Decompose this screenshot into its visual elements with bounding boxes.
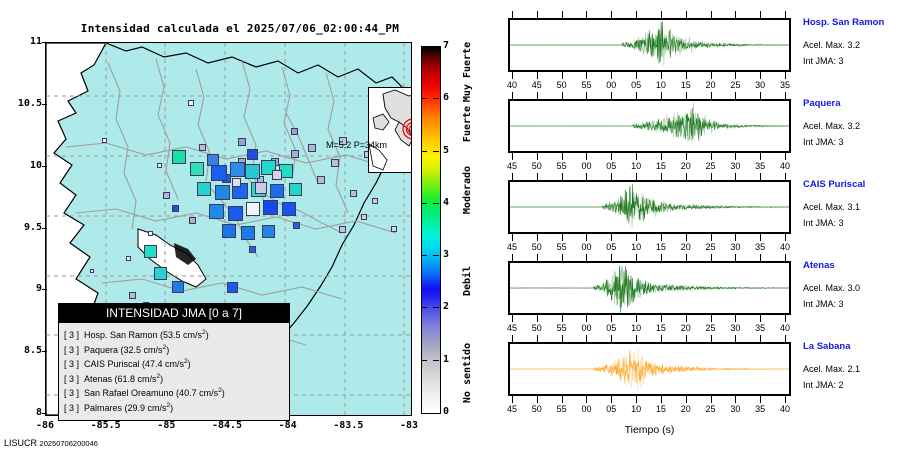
waveform-tick bbox=[711, 234, 712, 241]
waveform-tick bbox=[686, 173, 687, 180]
waveform-tick-label: 40 bbox=[499, 80, 525, 90]
waveform-tick bbox=[611, 396, 612, 403]
station-intensity-marker[interactable] bbox=[289, 183, 302, 196]
colorbar-tick-label: 2 bbox=[443, 301, 455, 312]
waveform-tick-label: 50 bbox=[524, 404, 550, 414]
map-y-tick-label: 10 bbox=[2, 160, 42, 171]
map-x-tick-label: -83.5 bbox=[325, 420, 371, 431]
waveform-tick bbox=[562, 153, 563, 160]
waveform-tick bbox=[686, 254, 687, 261]
waveform-bottom-ticks: 455055000510152025303540 bbox=[508, 234, 791, 241]
waveform-tick bbox=[636, 234, 637, 241]
station-intensity-marker[interactable] bbox=[144, 245, 157, 258]
waveform-tick bbox=[686, 11, 687, 18]
waveform-tick bbox=[586, 11, 587, 18]
station-intensity-marker[interactable] bbox=[211, 165, 227, 181]
waveform-tick-label: 50 bbox=[524, 323, 550, 333]
waveform-tick bbox=[735, 92, 736, 99]
waveform-station-name[interactable]: La Sabana bbox=[803, 341, 851, 352]
waveform-tick bbox=[735, 173, 736, 180]
waveform-tick-label: 20 bbox=[673, 242, 699, 252]
waveform-tick bbox=[562, 335, 563, 342]
waveform-tick bbox=[512, 11, 513, 18]
station-intensity-marker[interactable] bbox=[154, 267, 167, 280]
waveform-tick bbox=[735, 396, 736, 403]
waveform-tick-label: 10 bbox=[623, 161, 649, 171]
waveform-tick bbox=[537, 396, 538, 403]
map-y-tick-label: 9 bbox=[2, 283, 42, 294]
waveform-bottom-ticks: 455055000510152025303540 bbox=[508, 153, 791, 160]
waveform-tick bbox=[661, 315, 662, 322]
station-intensity-marker[interactable] bbox=[263, 200, 278, 215]
waveform-tick bbox=[711, 72, 712, 79]
waveform-tick bbox=[586, 254, 587, 261]
station-intensity-marker[interactable] bbox=[188, 100, 194, 106]
station-intensity-marker[interactable] bbox=[282, 202, 296, 216]
map-y-tick-label: 11 bbox=[2, 36, 42, 47]
colorbar-tick bbox=[433, 151, 439, 152]
station-intensity-marker[interactable] bbox=[246, 202, 260, 216]
waveform-tick bbox=[562, 72, 563, 79]
station-intensity-marker[interactable] bbox=[172, 281, 184, 293]
station-intensity-marker[interactable] bbox=[148, 231, 153, 236]
waveform-tick-label: 55 bbox=[573, 80, 599, 90]
station-intensity-marker[interactable] bbox=[291, 128, 298, 135]
waveform-tick bbox=[760, 11, 761, 18]
map-x-tick-label: -83 bbox=[386, 420, 432, 431]
waveform-bottom-ticks: 455055000510152025303540 bbox=[508, 396, 791, 403]
station-intensity-marker[interactable] bbox=[227, 282, 238, 293]
legend-entry: [ 3 ] Paquera (32.5 cm/s2) bbox=[64, 342, 284, 357]
waveform-tick bbox=[537, 173, 538, 180]
map-y-tick-label: 8 bbox=[2, 407, 42, 418]
waveform-tick bbox=[512, 234, 513, 241]
waveform-tick bbox=[586, 72, 587, 79]
waveform-tick bbox=[537, 153, 538, 160]
waveform-tick bbox=[785, 335, 786, 342]
waveform-tick bbox=[661, 234, 662, 241]
waveform-top-ticks bbox=[508, 173, 791, 180]
waveform-tick-label: 50 bbox=[549, 80, 575, 90]
colorbar-tick-label: 1 bbox=[443, 354, 455, 365]
waveform-tick-label: 30 bbox=[722, 242, 748, 252]
waveform-tick bbox=[586, 173, 587, 180]
station-intensity-marker[interactable] bbox=[197, 182, 211, 196]
map-y-tick bbox=[42, 228, 47, 229]
waveform-tick bbox=[711, 173, 712, 180]
waveform-tick bbox=[586, 92, 587, 99]
waveform-peak-acceleration: Acel. Max. 3.1 bbox=[803, 202, 860, 212]
map-y-axis: 1110.5109.598.58 bbox=[0, 42, 42, 414]
waveform-tick bbox=[760, 72, 761, 79]
station-intensity-marker[interactable] bbox=[331, 159, 339, 167]
waveform-tick bbox=[760, 254, 761, 261]
waveform-tick bbox=[512, 396, 513, 403]
waveform-tick-label: 15 bbox=[648, 242, 674, 252]
station-intensity-marker[interactable] bbox=[102, 138, 107, 143]
station-intensity-marker[interactable] bbox=[272, 170, 282, 180]
waveform-panel[interactable]: 404550550005101520253035Hosp. San RamonA… bbox=[508, 18, 893, 90]
station-intensity-marker[interactable] bbox=[190, 162, 204, 176]
station-intensity-marker[interactable] bbox=[230, 162, 245, 177]
waveform-tick bbox=[686, 234, 687, 241]
colorbar-tick-label: 6 bbox=[443, 92, 455, 103]
waveform-panel[interactable]: 455055000510152025303540CAIS PuriscalAce… bbox=[508, 180, 893, 252]
waveform-plot-box[interactable] bbox=[508, 18, 791, 72]
waveform-tick bbox=[562, 254, 563, 261]
station-intensity-marker[interactable] bbox=[90, 269, 94, 273]
magnitude-depth-label: M=5.2 P=34km bbox=[326, 140, 387, 150]
waveform-tick-label: 40 bbox=[772, 323, 798, 333]
waveform-tick bbox=[562, 173, 563, 180]
waveform-tick-label: 40 bbox=[772, 242, 798, 252]
waveform-tick bbox=[586, 396, 587, 403]
waveform-tick bbox=[735, 335, 736, 342]
map-y-tick bbox=[42, 351, 47, 352]
waveform-tick bbox=[711, 153, 712, 160]
waveform-tick bbox=[785, 234, 786, 241]
station-intensity-marker[interactable] bbox=[238, 138, 246, 146]
map-x-tick-label: -84 bbox=[265, 420, 311, 431]
waveform-tick-label: 25 bbox=[698, 404, 724, 414]
waveform-tick bbox=[562, 234, 563, 241]
waveform-tick bbox=[512, 335, 513, 342]
waveform-tick bbox=[785, 254, 786, 261]
waveform-tick-label: 00 bbox=[573, 242, 599, 252]
waveform-tick bbox=[735, 153, 736, 160]
waveform-trace bbox=[510, 182, 789, 232]
colorbar-tick-label: 4 bbox=[443, 197, 455, 208]
waveform-tick bbox=[735, 72, 736, 79]
waveform-tick bbox=[611, 173, 612, 180]
colorbar-category-label: Fuerte bbox=[462, 106, 473, 142]
waveform-tick bbox=[562, 11, 563, 18]
map-y-tick-label: 9.5 bbox=[2, 222, 42, 233]
waveform-tick bbox=[661, 11, 662, 18]
station-intensity-marker[interactable] bbox=[291, 150, 299, 158]
waveform-tick bbox=[711, 335, 712, 342]
waveform-tick-label: 20 bbox=[673, 404, 699, 414]
waveform-peak-acceleration: Acel. Max. 2.1 bbox=[803, 364, 860, 374]
waveform-tick bbox=[760, 315, 761, 322]
waveform-tick bbox=[512, 254, 513, 261]
waveform-jma-intensity: Int JMA: 3 bbox=[803, 56, 844, 66]
station-intensity-marker[interactable] bbox=[126, 256, 131, 261]
waveform-tick bbox=[512, 153, 513, 160]
map-y-tick bbox=[42, 413, 47, 414]
waveform-tick-label: 35 bbox=[747, 242, 773, 252]
footer-credit: LISUCR 20250706200046 bbox=[4, 438, 98, 448]
waveform-station-name[interactable]: Atenas bbox=[803, 260, 835, 271]
waveform-tick bbox=[735, 315, 736, 322]
waveform-tick bbox=[636, 92, 637, 99]
waveform-tick-label: 05 bbox=[623, 80, 649, 90]
waveform-plot-box[interactable] bbox=[508, 261, 791, 315]
waveform-tick-label: 15 bbox=[648, 404, 674, 414]
waveform-tick-label: 55 bbox=[549, 404, 575, 414]
waveform-tick bbox=[760, 92, 761, 99]
waveform-tick bbox=[512, 173, 513, 180]
waveform-tick bbox=[611, 153, 612, 160]
waveform-tick bbox=[760, 396, 761, 403]
waveform-tick bbox=[711, 92, 712, 99]
waveform-peak-acceleration: Acel. Max. 3.2 bbox=[803, 121, 860, 131]
colorbar-tick bbox=[421, 255, 427, 256]
station-intensity-marker[interactable] bbox=[293, 222, 300, 229]
waveform-tick-label: 35 bbox=[747, 323, 773, 333]
legend-entry: [ 3 ] Hosp. San Ramon (53.5 cm/s2) bbox=[64, 327, 284, 342]
waveform-tick-label: 00 bbox=[573, 404, 599, 414]
locator-inset-map[interactable] bbox=[368, 87, 412, 173]
waveform-tick-label: 55 bbox=[549, 242, 575, 252]
map-y-tick bbox=[42, 42, 47, 43]
waveform-tick bbox=[735, 254, 736, 261]
legend-entry: [ 3 ] CAIS Puriscal (47.4 cm/s2) bbox=[64, 356, 284, 371]
colorbar-tick-label: 3 bbox=[443, 249, 455, 260]
waveform-jma-intensity: Int JMA: 2 bbox=[803, 380, 844, 390]
station-intensity-marker[interactable] bbox=[172, 150, 186, 164]
station-intensity-marker[interactable] bbox=[249, 246, 256, 253]
map-y-tick bbox=[42, 289, 47, 290]
waveform-tick-label: 15 bbox=[673, 80, 699, 90]
waveform-tick bbox=[760, 173, 761, 180]
footer-event-id: 20250706200046 bbox=[40, 439, 98, 448]
waveform-tick-label: 45 bbox=[524, 80, 550, 90]
waveform-tick bbox=[586, 153, 587, 160]
colorbar-tick bbox=[433, 98, 439, 99]
waveform-tick bbox=[785, 92, 786, 99]
waveform-tick bbox=[661, 153, 662, 160]
waveform-tick-label: 00 bbox=[573, 323, 599, 333]
waveform-xaxis-title: Tiempo (s) bbox=[508, 424, 791, 436]
station-intensity-marker[interactable] bbox=[215, 185, 230, 200]
waveform-tick bbox=[661, 335, 662, 342]
waveform-jma-intensity: Int JMA: 3 bbox=[803, 299, 844, 309]
waveform-station-name[interactable]: Paquera bbox=[803, 98, 841, 109]
waveform-tick bbox=[537, 335, 538, 342]
waveform-tick-label: 20 bbox=[698, 80, 724, 90]
waveform-tick bbox=[611, 11, 612, 18]
map-x-tick-label: -86 bbox=[22, 420, 68, 431]
waveform-tick bbox=[586, 335, 587, 342]
waveform-tick bbox=[611, 315, 612, 322]
legend-entry: [ 3 ] Atenas (61.8 cm/s2) bbox=[64, 371, 284, 386]
waveform-tick bbox=[586, 234, 587, 241]
waveform-tick-label: 45 bbox=[499, 242, 525, 252]
colorbar-tick-label: 5 bbox=[443, 145, 455, 156]
waveform-tick bbox=[661, 254, 662, 261]
waveform-tick bbox=[537, 315, 538, 322]
waveform-tick bbox=[537, 72, 538, 79]
waveform-trace bbox=[510, 344, 789, 394]
waveform-panel[interactable]: 455055000510152025303540PaqueraAcel. Max… bbox=[508, 99, 893, 171]
waveform-tick bbox=[661, 92, 662, 99]
waveform-tick-label: 55 bbox=[549, 161, 575, 171]
waveform-tick bbox=[686, 335, 687, 342]
waveform-tick bbox=[785, 72, 786, 79]
waveform-tick-label: 45 bbox=[499, 323, 525, 333]
station-intensity-marker[interactable] bbox=[232, 178, 241, 187]
waveform-tick bbox=[537, 92, 538, 99]
waveform-tick bbox=[636, 72, 637, 79]
map-x-tick-label: -85.5 bbox=[83, 420, 129, 431]
waveform-tick-label: 05 bbox=[598, 323, 624, 333]
station-intensity-marker[interactable] bbox=[308, 144, 316, 152]
station-intensity-marker[interactable] bbox=[262, 225, 275, 238]
waveform-tick bbox=[661, 396, 662, 403]
waveform-tick-label: 30 bbox=[747, 80, 773, 90]
waveform-tick bbox=[611, 234, 612, 241]
waveform-tick-label: 10 bbox=[648, 80, 674, 90]
waveform-plot-box[interactable] bbox=[508, 99, 791, 153]
map-title: Intensidad calculada el 2025/07/06_02:00… bbox=[60, 22, 420, 35]
waveform-tick-label: 00 bbox=[598, 80, 624, 90]
waveform-tick bbox=[686, 153, 687, 160]
waveform-tick-label: 45 bbox=[499, 161, 525, 171]
waveform-tick bbox=[562, 396, 563, 403]
waveform-tick bbox=[636, 153, 637, 160]
station-intensity-marker[interactable] bbox=[222, 224, 236, 238]
waveform-tick-label: 50 bbox=[524, 161, 550, 171]
waveform-tick bbox=[711, 396, 712, 403]
station-intensity-marker[interactable] bbox=[189, 217, 196, 224]
station-intensity-marker[interactable] bbox=[372, 198, 378, 204]
waveform-tick bbox=[686, 72, 687, 79]
waveform-tick bbox=[711, 315, 712, 322]
waveform-tick bbox=[760, 234, 761, 241]
waveform-panel[interactable]: 455055000510152025303540AtenasAcel. Max.… bbox=[508, 261, 893, 333]
station-intensity-marker[interactable] bbox=[157, 163, 162, 168]
waveform-trace bbox=[510, 101, 789, 151]
waveform-tick-label: 20 bbox=[673, 323, 699, 333]
waveform-tick bbox=[611, 72, 612, 79]
station-intensity-marker[interactable] bbox=[129, 292, 136, 299]
legend-entry-list: [ 3 ] Hosp. San Ramon (53.5 cm/s2)[ 3 ] … bbox=[59, 323, 289, 420]
legend-entry: [ 3 ] Palmares (29.9 cm/s2) bbox=[64, 400, 284, 415]
map-y-tick bbox=[42, 166, 47, 167]
waveform-tick bbox=[785, 11, 786, 18]
map-y-tick-label: 8.5 bbox=[2, 345, 42, 356]
waveform-top-ticks bbox=[508, 335, 791, 342]
waveform-tick bbox=[537, 11, 538, 18]
waveform-tick-label: 00 bbox=[573, 161, 599, 171]
waveform-trace bbox=[510, 263, 789, 313]
station-intensity-marker[interactable] bbox=[270, 184, 284, 198]
colorbar-tick bbox=[433, 203, 439, 204]
waveform-tick-label: 30 bbox=[722, 323, 748, 333]
waveform-tick bbox=[735, 234, 736, 241]
colorbar-tick bbox=[421, 151, 427, 152]
waveform-tick-label: 25 bbox=[698, 242, 724, 252]
waveform-tick bbox=[512, 92, 513, 99]
map-y-tick bbox=[42, 104, 47, 105]
waveform-tick-label: 10 bbox=[623, 323, 649, 333]
station-intensity-marker[interactable] bbox=[199, 144, 206, 151]
map-x-tick-label: -85 bbox=[143, 420, 189, 431]
waveform-tick-label: 10 bbox=[623, 404, 649, 414]
colorbar-category-label: Muy Fuerte bbox=[462, 42, 473, 102]
waveform-tick bbox=[537, 254, 538, 261]
waveform-tick-label: 15 bbox=[648, 323, 674, 333]
waveform-plot-box[interactable] bbox=[508, 342, 791, 396]
waveform-tick bbox=[661, 72, 662, 79]
waveform-tick-label: 20 bbox=[673, 161, 699, 171]
waveform-trace bbox=[510, 20, 789, 70]
colorbar-tick bbox=[433, 307, 439, 308]
legend-title: INTENSIDAD JMA [0 a 7] bbox=[59, 304, 289, 323]
station-intensity-marker[interactable] bbox=[247, 149, 258, 160]
waveform-tick-label: 25 bbox=[698, 323, 724, 333]
waveform-tick bbox=[760, 153, 761, 160]
colorbar-tick bbox=[433, 255, 439, 256]
waveform-tick bbox=[735, 11, 736, 18]
intensity-legend[interactable]: INTENSIDAD JMA [0 a 7] [ 3 ] Hosp. San R… bbox=[58, 303, 290, 421]
waveform-tick-label: 40 bbox=[772, 161, 798, 171]
station-intensity-marker[interactable] bbox=[245, 164, 260, 179]
waveform-station-name[interactable]: Hosp. San Ramon bbox=[803, 17, 884, 28]
legend-entry: [ 3 ] San Rafael Oreamuno (40.7 cm/s2) bbox=[64, 385, 284, 400]
colorbar-tick bbox=[421, 203, 427, 204]
station-intensity-marker[interactable] bbox=[317, 176, 325, 184]
colorbar-tick bbox=[433, 360, 439, 361]
colorbar-tick bbox=[421, 360, 427, 361]
waveform-tick-label: 05 bbox=[598, 242, 624, 252]
waveform-tick bbox=[562, 315, 563, 322]
station-intensity-marker[interactable] bbox=[163, 192, 170, 199]
station-intensity-marker[interactable] bbox=[361, 214, 367, 220]
waveform-tick-label: 50 bbox=[524, 242, 550, 252]
waveform-tick bbox=[636, 396, 637, 403]
waveform-tick-label: 15 bbox=[648, 161, 674, 171]
waveform-station-name[interactable]: CAIS Puriscal bbox=[803, 179, 865, 190]
colorbar-category-label: Debil bbox=[462, 266, 473, 296]
station-intensity-marker[interactable] bbox=[209, 204, 224, 219]
waveform-tick-label: 35 bbox=[747, 161, 773, 171]
waveform-tick bbox=[611, 254, 612, 261]
station-intensity-marker[interactable] bbox=[339, 226, 346, 233]
waveform-tick bbox=[636, 173, 637, 180]
station-intensity-marker[interactable] bbox=[391, 226, 397, 232]
colorbar-tick bbox=[421, 307, 427, 308]
waveform-tick bbox=[636, 254, 637, 261]
waveform-top-ticks bbox=[508, 254, 791, 261]
waveform-panel[interactable]: 455055000510152025303540La SabanaAcel. M… bbox=[508, 342, 893, 414]
waveform-bottom-ticks: 404550550005101520253035 bbox=[508, 72, 791, 79]
waveform-tick bbox=[512, 72, 513, 79]
waveform-tick-label: 40 bbox=[772, 404, 798, 414]
waveform-tick bbox=[785, 173, 786, 180]
station-intensity-marker[interactable] bbox=[255, 182, 267, 194]
waveform-tick bbox=[686, 315, 687, 322]
waveform-tick bbox=[686, 92, 687, 99]
waveform-jma-intensity: Int JMA: 3 bbox=[803, 137, 844, 147]
waveform-tick bbox=[661, 173, 662, 180]
waveform-tick bbox=[586, 315, 587, 322]
station-intensity-marker[interactable] bbox=[172, 205, 179, 212]
waveform-plot-box[interactable] bbox=[508, 180, 791, 234]
waveform-tick-label: 10 bbox=[623, 242, 649, 252]
waveform-tick bbox=[785, 153, 786, 160]
waveform-tick bbox=[512, 315, 513, 322]
waveform-tick-label: 35 bbox=[747, 404, 773, 414]
station-intensity-marker[interactable] bbox=[228, 206, 243, 221]
station-intensity-marker[interactable] bbox=[241, 226, 255, 240]
waveform-peak-acceleration: Acel. Max. 3.2 bbox=[803, 40, 860, 50]
waveform-top-ticks bbox=[508, 11, 791, 18]
waveform-top-ticks bbox=[508, 92, 791, 99]
map-x-tick-label: -84.5 bbox=[204, 420, 250, 431]
station-intensity-marker[interactable] bbox=[350, 190, 357, 197]
